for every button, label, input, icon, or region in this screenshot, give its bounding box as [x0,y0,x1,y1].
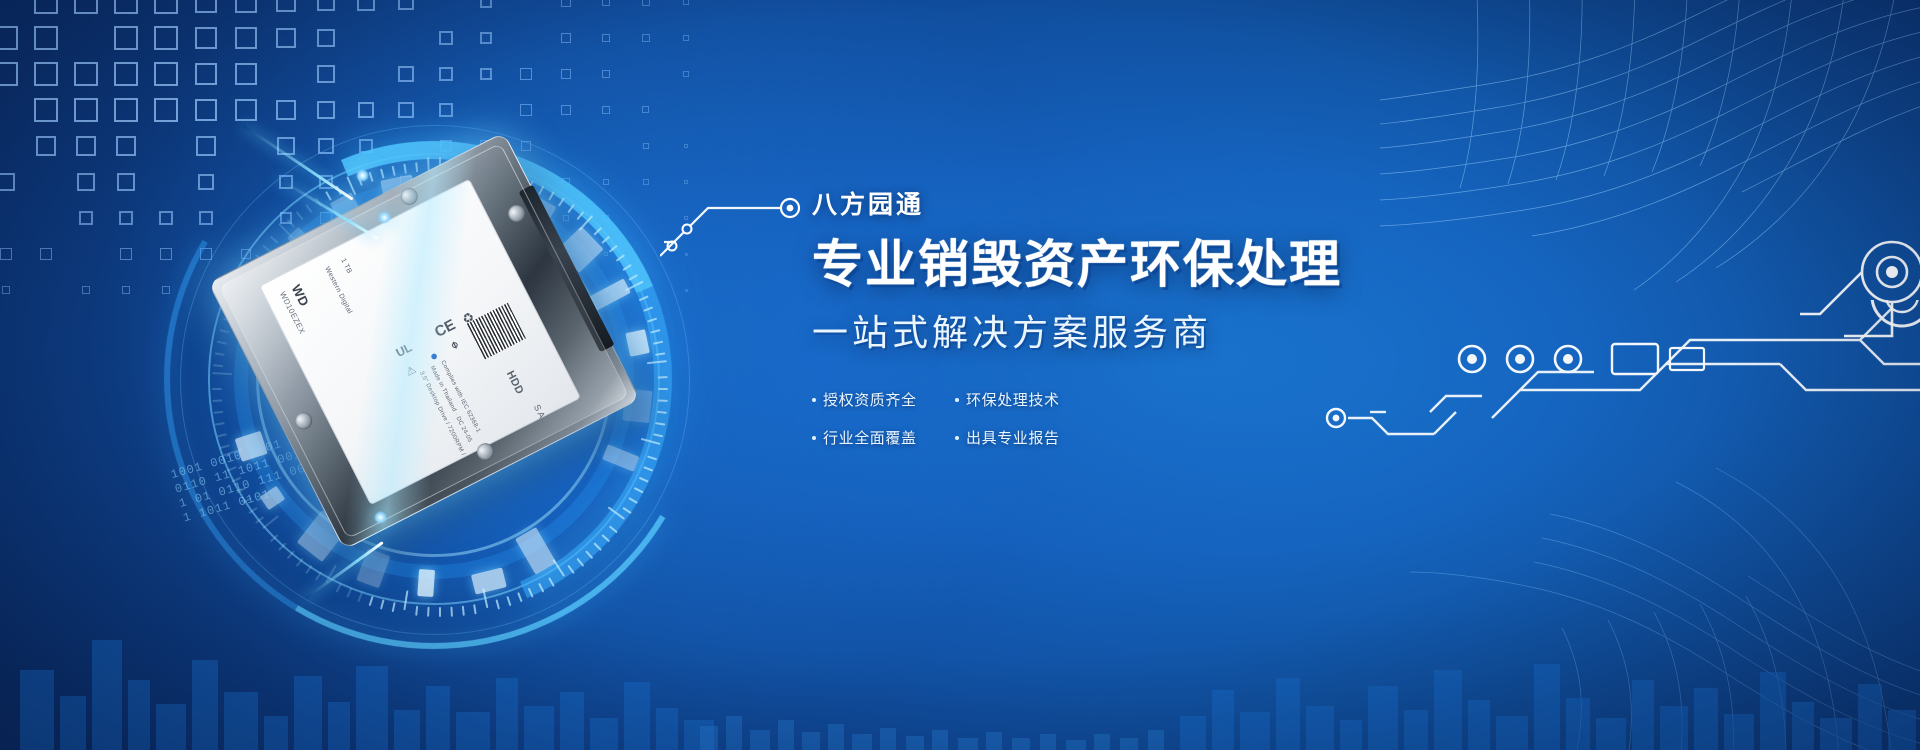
feature-item: 行业全面覆盖 [812,427,940,448]
feature-label: 授权资质齐全 [823,389,917,410]
feature-label: 出具专业报告 [966,427,1060,448]
bullet-dot-icon [955,398,959,402]
hero-banner: 1001 0010 1001 10010110 11 1011 0011 101… [0,0,1920,750]
feature-item: 环保处理技术 [955,389,1083,410]
feature-label: 环保处理技术 [966,389,1060,410]
feature-list: 授权资质齐全环保处理技术行业全面覆盖出具专业报告 [812,389,1112,448]
brand-name: 八方园通 [812,185,1432,221]
bullet-dot-icon [812,436,816,440]
feature-label: 行业全面覆盖 [823,427,917,448]
bullet-dot-icon [812,398,816,402]
feature-item: 出具专业报告 [955,427,1083,448]
feature-item: 授权资质齐全 [812,389,940,410]
banner-copy-block: 八方园通 专业销毁资产环保处理 一站式解决方案服务商 授权资质齐全环保处理技术行… [812,185,1432,448]
bullet-dot-icon [955,436,959,440]
subheadline: 一站式解决方案服务商 [812,304,1432,356]
headline: 专业销毁资产环保处理 [812,237,1432,292]
